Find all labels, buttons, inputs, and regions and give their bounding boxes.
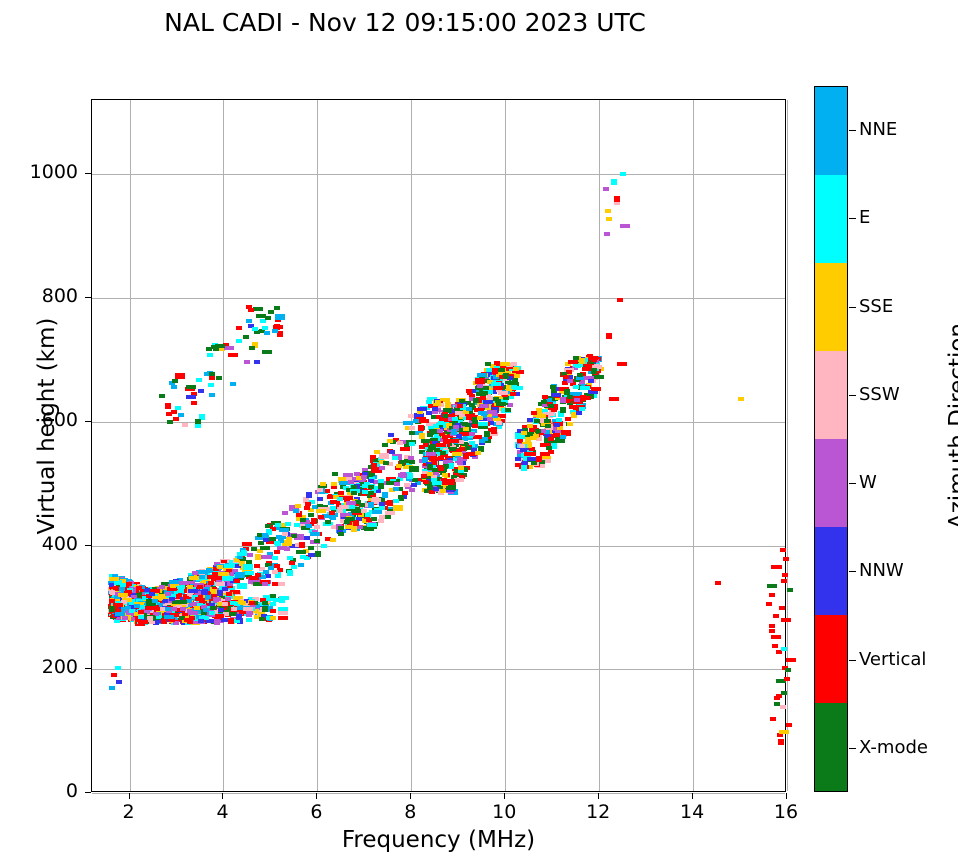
scatter-point [109, 599, 115, 603]
scatter-point [408, 414, 414, 418]
scatter-point [116, 680, 122, 684]
scatter-point [262, 533, 268, 537]
scatter-point [374, 450, 380, 454]
scatter-point [457, 404, 463, 408]
scatter-point [565, 417, 571, 421]
scatter-point [268, 310, 274, 314]
scatter-point [170, 584, 176, 588]
scatter-point [330, 538, 336, 542]
scatter-point [293, 509, 299, 513]
scatter-point [606, 333, 612, 339]
scatter-point [371, 517, 377, 521]
scatter-data-layer [92, 100, 785, 791]
x-tick [786, 793, 787, 799]
scatter-point [138, 615, 144, 619]
scatter-point [510, 392, 516, 396]
scatter-point [310, 532, 320, 536]
scatter-point [379, 466, 385, 470]
colorbar-tick [849, 307, 856, 308]
scatter-point [171, 410, 177, 414]
scatter-point [262, 582, 268, 586]
scatter-point [236, 339, 242, 343]
scatter-point [382, 492, 388, 498]
scatter-point [300, 518, 306, 522]
colorbar-label-ssw: SSW [859, 384, 900, 405]
scatter-point [247, 553, 253, 557]
scatter-point [351, 509, 361, 513]
scatter-point [255, 554, 261, 560]
scatter-point [198, 619, 204, 623]
scatter-point [304, 506, 310, 510]
scatter-point [329, 511, 335, 515]
scatter-point [198, 389, 204, 393]
scatter-point [368, 485, 374, 489]
scatter-point [780, 548, 786, 552]
x-tick-label: 4 [187, 801, 257, 823]
scatter-point [554, 423, 560, 427]
scatter-point [134, 604, 140, 608]
scatter-point [774, 702, 780, 706]
scatter-point [413, 419, 419, 423]
scatter-point [244, 571, 254, 575]
colorbar-segment-x-mode[interactable] [815, 703, 847, 791]
scatter-point [551, 408, 557, 412]
scatter-point [435, 400, 441, 406]
scatter-point [262, 326, 268, 330]
scatter-point [437, 429, 443, 433]
scatter-point [186, 395, 196, 399]
scatter-point [548, 450, 554, 454]
y-tick-label: 0 [0, 780, 78, 802]
scatter-point [393, 487, 399, 491]
scatter-point [445, 402, 451, 408]
scatter-point [379, 502, 385, 506]
scatter-point [475, 378, 485, 384]
scatter-point [321, 544, 327, 548]
scatter-point [263, 538, 269, 542]
scatter-point [409, 460, 415, 464]
scatter-point [498, 391, 508, 395]
scatter-point [262, 601, 268, 605]
scatter-point [604, 232, 610, 236]
scatter-point [275, 314, 285, 320]
scatter-point [411, 483, 417, 487]
scatter-point [466, 389, 472, 393]
scatter-point [527, 424, 533, 428]
scatter-point [236, 326, 242, 330]
scatter-point [491, 430, 497, 434]
plot-area [91, 99, 786, 792]
scatter-point [536, 456, 542, 462]
scatter-point [189, 576, 199, 580]
scatter-point [219, 572, 229, 576]
scatter-point [466, 407, 472, 411]
scatter-point [287, 570, 293, 576]
scatter-point [270, 602, 276, 606]
scatter-point [368, 502, 374, 508]
scatter-point [218, 614, 224, 618]
scatter-point [766, 602, 772, 606]
scatter-point [228, 618, 234, 622]
scatter-point [418, 425, 424, 431]
scatter-point [287, 556, 293, 560]
scatter-point [781, 579, 787, 583]
scatter-point [379, 453, 389, 459]
scatter-point [393, 499, 399, 503]
scatter-point [109, 686, 115, 690]
scatter-point [493, 386, 503, 390]
x-tick [598, 793, 599, 799]
scatter-point [432, 407, 438, 411]
scatter-point [368, 491, 374, 495]
colorbar-segment-w[interactable] [815, 439, 847, 527]
y-tick [85, 297, 91, 298]
scatter-point [767, 584, 777, 588]
scatter-point [469, 441, 475, 445]
scatter-point [783, 557, 789, 561]
scatter-point [409, 431, 415, 435]
colorbar-segment-ssw[interactable] [815, 351, 847, 439]
scatter-point [298, 563, 304, 567]
scatter-point [477, 416, 483, 420]
scatter-point [535, 429, 541, 433]
scatter-point [248, 308, 254, 312]
colorbar-legend[interactable] [814, 86, 848, 792]
colorbar-segment-e[interactable] [815, 175, 847, 263]
scatter-point [214, 619, 220, 625]
scatter-point [514, 374, 520, 378]
scatter-point [515, 457, 521, 461]
y-axis-title: Virtual height (km) [34, 116, 60, 736]
scatter-point [427, 472, 433, 476]
scatter-point [308, 546, 314, 550]
scatter-point [784, 677, 790, 681]
scatter-point [138, 610, 144, 614]
scatter-point [330, 516, 336, 520]
scatter-point [361, 509, 367, 513]
scatter-point [278, 616, 288, 620]
scatter-point [224, 346, 234, 350]
scatter-point [294, 523, 300, 527]
scatter-point [392, 456, 398, 460]
scatter-point [243, 564, 253, 570]
scatter-point [278, 611, 288, 615]
scatter-point [371, 463, 377, 467]
scatter-point [580, 395, 586, 401]
scatter-point [246, 618, 252, 622]
scatter-point [243, 607, 253, 611]
scatter-point [492, 368, 498, 374]
colorbar-segment-sse[interactable] [815, 263, 847, 351]
scatter-point [451, 429, 457, 435]
scatter-point [400, 472, 406, 478]
scatter-point [285, 522, 291, 526]
scatter-point [487, 417, 493, 421]
scatter-point [419, 433, 425, 439]
scatter-point [272, 570, 278, 574]
scatter-point [266, 555, 272, 559]
scatter-point [199, 575, 205, 579]
scatter-point [353, 522, 359, 526]
scatter-point [249, 576, 259, 580]
scatter-point [306, 492, 312, 498]
scatter-point [449, 439, 459, 443]
scatter-point [457, 461, 463, 465]
scatter-point [478, 422, 488, 426]
scatter-point [542, 395, 548, 399]
scatter-point [567, 395, 573, 399]
scatter-point [372, 510, 382, 514]
scatter-point [446, 486, 456, 490]
scatter-point [235, 572, 245, 578]
scatter-point [173, 417, 179, 421]
y-tick [85, 668, 91, 669]
scatter-point [426, 411, 432, 415]
scatter-point [263, 570, 269, 574]
scatter-point [165, 592, 171, 596]
scatter-point [238, 600, 244, 604]
scatter-point [485, 362, 491, 366]
scatter-point [270, 594, 276, 598]
scatter-point [531, 411, 537, 415]
scatter-point [115, 612, 125, 616]
scatter-point [270, 616, 276, 620]
scatter-point [291, 565, 297, 569]
colorbar-segment-nne[interactable] [815, 87, 847, 175]
scatter-point [217, 565, 223, 569]
scatter-point [773, 614, 779, 618]
colorbar-label-nne: NNE [859, 119, 897, 140]
x-tick [692, 793, 693, 799]
scatter-point [228, 353, 238, 357]
scatter-point [164, 615, 174, 619]
colorbar-label-nnw: NNW [859, 560, 904, 581]
scatter-point [440, 489, 446, 493]
scatter-point [452, 417, 458, 421]
scatter-point [591, 387, 601, 391]
scatter-point [295, 504, 301, 508]
scatter-point [165, 607, 171, 611]
scatter-point [306, 524, 312, 528]
scatter-point [441, 479, 451, 485]
scatter-point [337, 497, 343, 501]
scatter-point [230, 382, 236, 386]
scatter-point [180, 607, 186, 611]
x-tick [410, 793, 411, 799]
scatter-point [513, 367, 519, 371]
scatter-point [314, 525, 320, 529]
x-tick [222, 793, 223, 799]
scatter-point [459, 447, 465, 451]
y-tick [85, 173, 91, 174]
scatter-point [782, 573, 788, 577]
scatter-point [769, 593, 775, 597]
scatter-point [503, 373, 509, 379]
scatter-point [426, 452, 436, 456]
scatter-point [524, 452, 530, 456]
scatter-point [186, 385, 196, 389]
x-tick [129, 793, 130, 799]
scatter-point [769, 624, 775, 628]
scatter-point [611, 179, 617, 185]
scatter-point [508, 381, 518, 385]
scatter-point [126, 582, 132, 586]
scatter-point [284, 547, 290, 551]
scatter-point [432, 481, 442, 485]
y-tick [85, 421, 91, 422]
y-tick [85, 792, 91, 793]
scatter-point [568, 360, 578, 364]
scatter-point [262, 350, 272, 354]
scatter-point [344, 520, 350, 524]
x-tick-label: 2 [94, 801, 164, 823]
scatter-point [421, 474, 427, 478]
scatter-point [546, 446, 552, 450]
scatter-point [282, 511, 288, 515]
colorbar-label-w: W [859, 472, 877, 493]
scatter-point [253, 307, 263, 311]
scatter-point [351, 485, 357, 489]
scatter-point [575, 364, 581, 368]
scatter-point [479, 439, 485, 443]
scatter-point [511, 385, 517, 389]
scatter-point [243, 335, 249, 339]
scatter-point [196, 378, 202, 382]
scatter-point [339, 481, 345, 485]
ionogram-figure: NAL CADI - Nov 12 09:15:00 2023 UTC 2468… [0, 0, 958, 857]
scatter-point [487, 396, 493, 400]
scatter-point [300, 555, 306, 559]
x-tick-label: 10 [469, 801, 539, 823]
x-tick-label: 8 [375, 801, 445, 823]
scatter-point [194, 606, 200, 610]
scatter-point [274, 550, 280, 554]
x-tick-label: 14 [657, 801, 727, 823]
scatter-point [715, 581, 721, 585]
scatter-point [463, 427, 469, 431]
scatter-point [433, 424, 439, 428]
scatter-point [265, 316, 271, 320]
scatter-point [210, 606, 216, 610]
scatter-point [388, 433, 394, 437]
colorbar-segment-vertical[interactable] [815, 615, 847, 703]
scatter-point [264, 331, 270, 335]
scatter-point [338, 526, 344, 530]
scatter-point [296, 550, 306, 554]
scatter-point [389, 450, 395, 454]
gridline-horizontal [92, 793, 785, 794]
scatter-point [458, 466, 464, 470]
scatter-point [177, 600, 187, 604]
scatter-point [299, 542, 305, 548]
scatter-point [606, 217, 612, 221]
scatter-point [272, 582, 278, 586]
scatter-point [772, 644, 778, 648]
scatter-point [560, 407, 566, 413]
scatter-point [780, 705, 786, 709]
scatter-point [567, 379, 573, 383]
scatter-point [122, 616, 128, 620]
scatter-point [397, 441, 403, 445]
scatter-point [305, 502, 311, 506]
scatter-point [224, 564, 234, 568]
scatter-point [169, 597, 175, 601]
scatter-point [188, 589, 198, 593]
scatter-point [364, 527, 374, 531]
scatter-point [500, 414, 506, 418]
scatter-point [605, 209, 611, 213]
scatter-point [282, 532, 288, 536]
colorbar-tick [849, 130, 856, 131]
scatter-point [459, 399, 465, 403]
scatter-point [394, 482, 400, 486]
scatter-point [115, 666, 121, 670]
scatter-point [286, 537, 292, 541]
scatter-point [315, 551, 321, 557]
colorbar-title: Azimuth Direction [945, 116, 958, 736]
x-tick-label: 16 [751, 801, 821, 823]
scatter-point [279, 599, 285, 603]
scatter-point [167, 420, 173, 424]
scatter-point [218, 608, 224, 612]
scatter-point [771, 565, 777, 569]
scatter-point [119, 587, 125, 591]
colorbar-label-sse: SSE [859, 296, 893, 317]
scatter-point [149, 592, 155, 596]
scatter-point [545, 424, 551, 428]
scatter-point [254, 360, 260, 364]
scatter-point [226, 592, 232, 596]
scatter-point [785, 668, 791, 672]
scatter-point [433, 487, 439, 491]
scatter-point [479, 404, 489, 408]
scatter-point [781, 647, 787, 651]
scatter-point [738, 397, 744, 401]
scatter-point [620, 172, 626, 176]
scatter-point [576, 411, 582, 415]
scatter-point [184, 618, 190, 622]
scatter-point [349, 505, 355, 509]
scatter-point [527, 418, 533, 422]
scatter-point [442, 473, 448, 477]
scatter-point [560, 435, 566, 439]
scatter-point [165, 403, 171, 409]
scatter-point [438, 467, 444, 471]
scatter-point [317, 488, 323, 492]
scatter-point [158, 594, 164, 598]
scatter-point [195, 424, 201, 428]
colorbar-tick [849, 218, 856, 219]
scatter-point [452, 452, 462, 456]
scatter-point [109, 606, 115, 610]
scatter-point [769, 629, 775, 633]
scatter-point [786, 658, 796, 662]
scatter-point [136, 586, 142, 590]
scatter-point [320, 482, 326, 486]
scatter-point [426, 400, 432, 404]
scatter-point [387, 439, 393, 443]
scatter-point [172, 379, 178, 383]
colorbar-segment-nnw[interactable] [815, 527, 847, 615]
scatter-point [216, 376, 222, 380]
scatter-point [786, 723, 792, 727]
scatter-point [560, 397, 566, 403]
scatter-point [484, 431, 490, 437]
scatter-point [208, 581, 214, 585]
scatter-point [246, 319, 252, 323]
colorbar-tick [849, 483, 856, 484]
scatter-point [316, 509, 326, 513]
